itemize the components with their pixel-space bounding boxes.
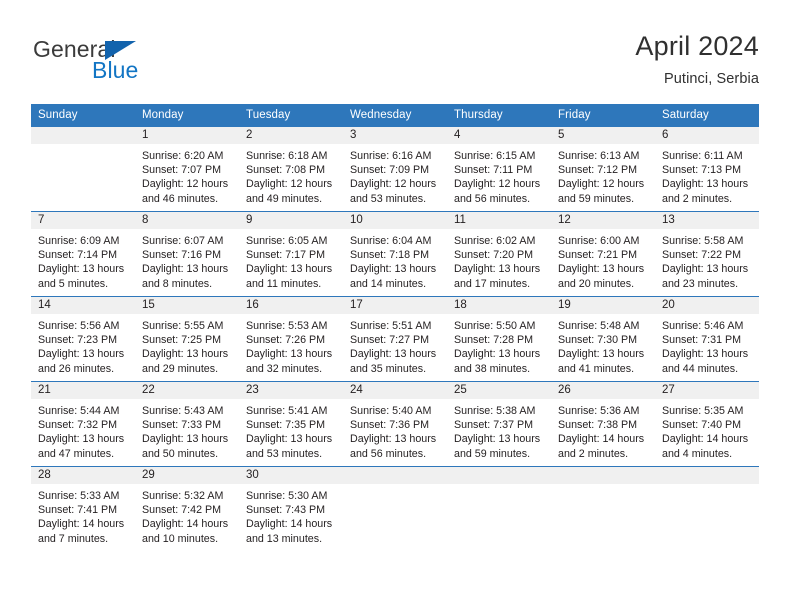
- day-cell-inner: 21Sunrise: 5:44 AM Sunset: 7:32 PM Dayli…: [31, 382, 135, 466]
- calendar-day-cell[interactable]: [551, 467, 655, 552]
- day-cell-inner: [343, 467, 447, 551]
- day-sun-details: Sunrise: 5:33 AM Sunset: 7:41 PM Dayligh…: [31, 484, 135, 546]
- day-number: 13: [655, 212, 759, 229]
- day-number: 8: [135, 212, 239, 229]
- page-header: General Blue April 2024 Putinci, Serbia: [0, 0, 792, 104]
- calendar-day-cell[interactable]: 6Sunrise: 6:11 AM Sunset: 7:13 PM Daylig…: [655, 127, 759, 212]
- day-sun-details: Sunrise: 5:56 AM Sunset: 7:23 PM Dayligh…: [31, 314, 135, 376]
- calendar-day-cell[interactable]: 13Sunrise: 5:58 AM Sunset: 7:22 PM Dayli…: [655, 212, 759, 297]
- day-cell-inner: 13Sunrise: 5:58 AM Sunset: 7:22 PM Dayli…: [655, 212, 759, 296]
- day-cell-inner: [31, 127, 135, 211]
- day-number: 10: [343, 212, 447, 229]
- day-number: 19: [551, 297, 655, 314]
- logo-text-blue: Blue: [92, 57, 138, 84]
- calendar-page: General Blue April 2024 Putinci, Serbia …: [0, 0, 792, 612]
- day-sun-details: Sunrise: 6:20 AM Sunset: 7:07 PM Dayligh…: [135, 144, 239, 206]
- day-number: 16: [239, 297, 343, 314]
- day-number: 21: [31, 382, 135, 399]
- day-number: 15: [135, 297, 239, 314]
- calendar-day-cell[interactable]: 28Sunrise: 5:33 AM Sunset: 7:41 PM Dayli…: [31, 467, 135, 552]
- day-cell-inner: [655, 467, 759, 551]
- day-number: 22: [135, 382, 239, 399]
- day-cell-inner: 28Sunrise: 5:33 AM Sunset: 7:41 PM Dayli…: [31, 467, 135, 551]
- day-number: 25: [447, 382, 551, 399]
- weekday-header-tuesday: Tuesday: [239, 104, 343, 127]
- calendar-day-cell[interactable]: 26Sunrise: 5:36 AM Sunset: 7:38 PM Dayli…: [551, 382, 655, 467]
- day-number: 1: [135, 127, 239, 144]
- day-cell-inner: 27Sunrise: 5:35 AM Sunset: 7:40 PM Dayli…: [655, 382, 759, 466]
- day-number: 24: [343, 382, 447, 399]
- calendar-day-cell[interactable]: 29Sunrise: 5:32 AM Sunset: 7:42 PM Dayli…: [135, 467, 239, 552]
- day-number: 4: [447, 127, 551, 144]
- title-block: April 2024 Putinci, Serbia: [635, 30, 759, 89]
- day-sun-details: Sunrise: 5:32 AM Sunset: 7:42 PM Dayligh…: [135, 484, 239, 546]
- day-cell-inner: 15Sunrise: 5:55 AM Sunset: 7:25 PM Dayli…: [135, 297, 239, 381]
- day-number: 17: [343, 297, 447, 314]
- day-cell-inner: 3Sunrise: 6:16 AM Sunset: 7:09 PM Daylig…: [343, 127, 447, 211]
- calendar-table: Sunday Monday Tuesday Wednesday Thursday…: [31, 104, 759, 551]
- calendar-day-cell[interactable]: 15Sunrise: 5:55 AM Sunset: 7:25 PM Dayli…: [135, 297, 239, 382]
- calendar-day-cell[interactable]: 12Sunrise: 6:00 AM Sunset: 7:21 PM Dayli…: [551, 212, 655, 297]
- day-cell-inner: [447, 467, 551, 551]
- calendar-day-cell[interactable]: 7Sunrise: 6:09 AM Sunset: 7:14 PM Daylig…: [31, 212, 135, 297]
- day-sun-details: Sunrise: 6:16 AM Sunset: 7:09 PM Dayligh…: [343, 144, 447, 206]
- day-sun-details: [655, 484, 759, 489]
- page-title: April 2024: [635, 30, 759, 62]
- calendar-day-cell[interactable]: 21Sunrise: 5:44 AM Sunset: 7:32 PM Dayli…: [31, 382, 135, 467]
- calendar-day-cell[interactable]: 18Sunrise: 5:50 AM Sunset: 7:28 PM Dayli…: [447, 297, 551, 382]
- day-cell-inner: 26Sunrise: 5:36 AM Sunset: 7:38 PM Dayli…: [551, 382, 655, 466]
- day-sun-details: Sunrise: 6:04 AM Sunset: 7:18 PM Dayligh…: [343, 229, 447, 291]
- day-cell-inner: 17Sunrise: 5:51 AM Sunset: 7:27 PM Dayli…: [343, 297, 447, 381]
- calendar-day-cell[interactable]: 4Sunrise: 6:15 AM Sunset: 7:11 PM Daylig…: [447, 127, 551, 212]
- day-cell-inner: 2Sunrise: 6:18 AM Sunset: 7:08 PM Daylig…: [239, 127, 343, 211]
- calendar-day-cell[interactable]: 1Sunrise: 6:20 AM Sunset: 7:07 PM Daylig…: [135, 127, 239, 212]
- calendar-day-cell[interactable]: [31, 127, 135, 212]
- weekday-header-saturday: Saturday: [655, 104, 759, 127]
- calendar-day-cell[interactable]: 3Sunrise: 6:16 AM Sunset: 7:09 PM Daylig…: [343, 127, 447, 212]
- weekday-header-sunday: Sunday: [31, 104, 135, 127]
- day-sun-details: Sunrise: 5:30 AM Sunset: 7:43 PM Dayligh…: [239, 484, 343, 546]
- calendar-day-cell[interactable]: 20Sunrise: 5:46 AM Sunset: 7:31 PM Dayli…: [655, 297, 759, 382]
- general-blue-logo[interactable]: General Blue: [33, 36, 243, 88]
- calendar-day-cell[interactable]: 24Sunrise: 5:40 AM Sunset: 7:36 PM Dayli…: [343, 382, 447, 467]
- day-sun-details: [551, 484, 655, 489]
- day-cell-inner: 23Sunrise: 5:41 AM Sunset: 7:35 PM Dayli…: [239, 382, 343, 466]
- day-sun-details: Sunrise: 6:02 AM Sunset: 7:20 PM Dayligh…: [447, 229, 551, 291]
- calendar-day-cell[interactable]: 16Sunrise: 5:53 AM Sunset: 7:26 PM Dayli…: [239, 297, 343, 382]
- day-sun-details: Sunrise: 6:13 AM Sunset: 7:12 PM Dayligh…: [551, 144, 655, 206]
- weekday-header-monday: Monday: [135, 104, 239, 127]
- weekday-header-thursday: Thursday: [447, 104, 551, 127]
- day-cell-inner: 10Sunrise: 6:04 AM Sunset: 7:18 PM Dayli…: [343, 212, 447, 296]
- day-cell-inner: 12Sunrise: 6:00 AM Sunset: 7:21 PM Dayli…: [551, 212, 655, 296]
- day-number: 29: [135, 467, 239, 484]
- day-cell-inner: 11Sunrise: 6:02 AM Sunset: 7:20 PM Dayli…: [447, 212, 551, 296]
- day-sun-details: Sunrise: 6:18 AM Sunset: 7:08 PM Dayligh…: [239, 144, 343, 206]
- weekday-header-row: Sunday Monday Tuesday Wednesday Thursday…: [31, 104, 759, 127]
- day-number: [343, 467, 447, 484]
- day-cell-inner: 18Sunrise: 5:50 AM Sunset: 7:28 PM Dayli…: [447, 297, 551, 381]
- day-sun-details: Sunrise: 6:07 AM Sunset: 7:16 PM Dayligh…: [135, 229, 239, 291]
- day-sun-details: Sunrise: 5:38 AM Sunset: 7:37 PM Dayligh…: [447, 399, 551, 461]
- calendar-day-cell[interactable]: 2Sunrise: 6:18 AM Sunset: 7:08 PM Daylig…: [239, 127, 343, 212]
- day-sun-details: Sunrise: 5:40 AM Sunset: 7:36 PM Dayligh…: [343, 399, 447, 461]
- calendar-week-row: 1Sunrise: 6:20 AM Sunset: 7:07 PM Daylig…: [31, 127, 759, 212]
- calendar-day-cell[interactable]: 11Sunrise: 6:02 AM Sunset: 7:20 PM Dayli…: [447, 212, 551, 297]
- day-cell-inner: 5Sunrise: 6:13 AM Sunset: 7:12 PM Daylig…: [551, 127, 655, 211]
- day-sun-details: Sunrise: 5:55 AM Sunset: 7:25 PM Dayligh…: [135, 314, 239, 376]
- day-cell-inner: 1Sunrise: 6:20 AM Sunset: 7:07 PM Daylig…: [135, 127, 239, 211]
- day-sun-details: [447, 484, 551, 489]
- day-number: 28: [31, 467, 135, 484]
- calendar-week-row: 28Sunrise: 5:33 AM Sunset: 7:41 PM Dayli…: [31, 467, 759, 552]
- page-subtitle: Putinci, Serbia: [635, 69, 759, 89]
- day-sun-details: Sunrise: 5:51 AM Sunset: 7:27 PM Dayligh…: [343, 314, 447, 376]
- day-number: [655, 467, 759, 484]
- day-cell-inner: 19Sunrise: 5:48 AM Sunset: 7:30 PM Dayli…: [551, 297, 655, 381]
- calendar-day-cell[interactable]: 17Sunrise: 5:51 AM Sunset: 7:27 PM Dayli…: [343, 297, 447, 382]
- day-sun-details: Sunrise: 5:41 AM Sunset: 7:35 PM Dayligh…: [239, 399, 343, 461]
- day-number: [551, 467, 655, 484]
- day-cell-inner: 16Sunrise: 5:53 AM Sunset: 7:26 PM Dayli…: [239, 297, 343, 381]
- calendar-week-row: 7Sunrise: 6:09 AM Sunset: 7:14 PM Daylig…: [31, 212, 759, 297]
- day-cell-inner: 4Sunrise: 6:15 AM Sunset: 7:11 PM Daylig…: [447, 127, 551, 211]
- calendar-body: 1Sunrise: 6:20 AM Sunset: 7:07 PM Daylig…: [31, 127, 759, 552]
- day-number: 23: [239, 382, 343, 399]
- day-number: 12: [551, 212, 655, 229]
- day-cell-inner: 25Sunrise: 5:38 AM Sunset: 7:37 PM Dayli…: [447, 382, 551, 466]
- weekday-header-wednesday: Wednesday: [343, 104, 447, 127]
- calendar-day-cell[interactable]: 19Sunrise: 5:48 AM Sunset: 7:30 PM Dayli…: [551, 297, 655, 382]
- day-sun-details: [343, 484, 447, 489]
- day-cell-inner: 29Sunrise: 5:32 AM Sunset: 7:42 PM Dayli…: [135, 467, 239, 551]
- day-number: 5: [551, 127, 655, 144]
- calendar-day-cell[interactable]: 22Sunrise: 5:43 AM Sunset: 7:33 PM Dayli…: [135, 382, 239, 467]
- weekday-header-friday: Friday: [551, 104, 655, 127]
- day-sun-details: Sunrise: 5:50 AM Sunset: 7:28 PM Dayligh…: [447, 314, 551, 376]
- calendar-day-cell[interactable]: 23Sunrise: 5:41 AM Sunset: 7:35 PM Dayli…: [239, 382, 343, 467]
- calendar-day-cell[interactable]: 9Sunrise: 6:05 AM Sunset: 7:17 PM Daylig…: [239, 212, 343, 297]
- day-number: 2: [239, 127, 343, 144]
- calendar-day-cell[interactable]: 30Sunrise: 5:30 AM Sunset: 7:43 PM Dayli…: [239, 467, 343, 552]
- calendar-day-cell[interactable]: [343, 467, 447, 552]
- day-sun-details: Sunrise: 5:53 AM Sunset: 7:26 PM Dayligh…: [239, 314, 343, 376]
- day-cell-inner: 8Sunrise: 6:07 AM Sunset: 7:16 PM Daylig…: [135, 212, 239, 296]
- day-sun-details: Sunrise: 6:09 AM Sunset: 7:14 PM Dayligh…: [31, 229, 135, 291]
- day-number: 18: [447, 297, 551, 314]
- day-cell-inner: 24Sunrise: 5:40 AM Sunset: 7:36 PM Dayli…: [343, 382, 447, 466]
- day-number: [31, 127, 135, 144]
- day-cell-inner: 7Sunrise: 6:09 AM Sunset: 7:14 PM Daylig…: [31, 212, 135, 296]
- day-sun-details: Sunrise: 6:11 AM Sunset: 7:13 PM Dayligh…: [655, 144, 759, 206]
- day-cell-inner: 6Sunrise: 6:11 AM Sunset: 7:13 PM Daylig…: [655, 127, 759, 211]
- day-number: 9: [239, 212, 343, 229]
- day-number: [447, 467, 551, 484]
- calendar-week-row: 21Sunrise: 5:44 AM Sunset: 7:32 PM Dayli…: [31, 382, 759, 467]
- calendar-day-cell[interactable]: 5Sunrise: 6:13 AM Sunset: 7:12 PM Daylig…: [551, 127, 655, 212]
- day-sun-details: Sunrise: 6:05 AM Sunset: 7:17 PM Dayligh…: [239, 229, 343, 291]
- day-sun-details: Sunrise: 5:43 AM Sunset: 7:33 PM Dayligh…: [135, 399, 239, 461]
- day-number: 26: [551, 382, 655, 399]
- day-number: 7: [31, 212, 135, 229]
- day-number: 6: [655, 127, 759, 144]
- day-sun-details: Sunrise: 5:58 AM Sunset: 7:22 PM Dayligh…: [655, 229, 759, 291]
- day-sun-details: Sunrise: 5:35 AM Sunset: 7:40 PM Dayligh…: [655, 399, 759, 461]
- calendar-day-cell[interactable]: 14Sunrise: 5:56 AM Sunset: 7:23 PM Dayli…: [31, 297, 135, 382]
- calendar-week-row: 14Sunrise: 5:56 AM Sunset: 7:23 PM Dayli…: [31, 297, 759, 382]
- day-sun-details: [31, 144, 135, 149]
- day-sun-details: Sunrise: 6:15 AM Sunset: 7:11 PM Dayligh…: [447, 144, 551, 206]
- day-sun-details: Sunrise: 5:46 AM Sunset: 7:31 PM Dayligh…: [655, 314, 759, 376]
- calendar-day-cell[interactable]: 8Sunrise: 6:07 AM Sunset: 7:16 PM Daylig…: [135, 212, 239, 297]
- day-number: 14: [31, 297, 135, 314]
- day-sun-details: Sunrise: 5:36 AM Sunset: 7:38 PM Dayligh…: [551, 399, 655, 461]
- day-sun-details: Sunrise: 5:48 AM Sunset: 7:30 PM Dayligh…: [551, 314, 655, 376]
- day-cell-inner: 30Sunrise: 5:30 AM Sunset: 7:43 PM Dayli…: [239, 467, 343, 551]
- day-number: 11: [447, 212, 551, 229]
- day-cell-inner: [551, 467, 655, 551]
- day-cell-inner: 20Sunrise: 5:46 AM Sunset: 7:31 PM Dayli…: [655, 297, 759, 381]
- day-cell-inner: 22Sunrise: 5:43 AM Sunset: 7:33 PM Dayli…: [135, 382, 239, 466]
- calendar-day-cell[interactable]: 10Sunrise: 6:04 AM Sunset: 7:18 PM Dayli…: [343, 212, 447, 297]
- day-cell-inner: 9Sunrise: 6:05 AM Sunset: 7:17 PM Daylig…: [239, 212, 343, 296]
- day-number: 27: [655, 382, 759, 399]
- calendar-day-cell[interactable]: 25Sunrise: 5:38 AM Sunset: 7:37 PM Dayli…: [447, 382, 551, 467]
- day-cell-inner: 14Sunrise: 5:56 AM Sunset: 7:23 PM Dayli…: [31, 297, 135, 381]
- day-number: 3: [343, 127, 447, 144]
- day-sun-details: Sunrise: 6:00 AM Sunset: 7:21 PM Dayligh…: [551, 229, 655, 291]
- day-number: 30: [239, 467, 343, 484]
- calendar-day-cell[interactable]: 27Sunrise: 5:35 AM Sunset: 7:40 PM Dayli…: [655, 382, 759, 467]
- day-number: 20: [655, 297, 759, 314]
- calendar-day-cell[interactable]: [655, 467, 759, 552]
- day-sun-details: Sunrise: 5:44 AM Sunset: 7:32 PM Dayligh…: [31, 399, 135, 461]
- calendar-day-cell[interactable]: [447, 467, 551, 552]
